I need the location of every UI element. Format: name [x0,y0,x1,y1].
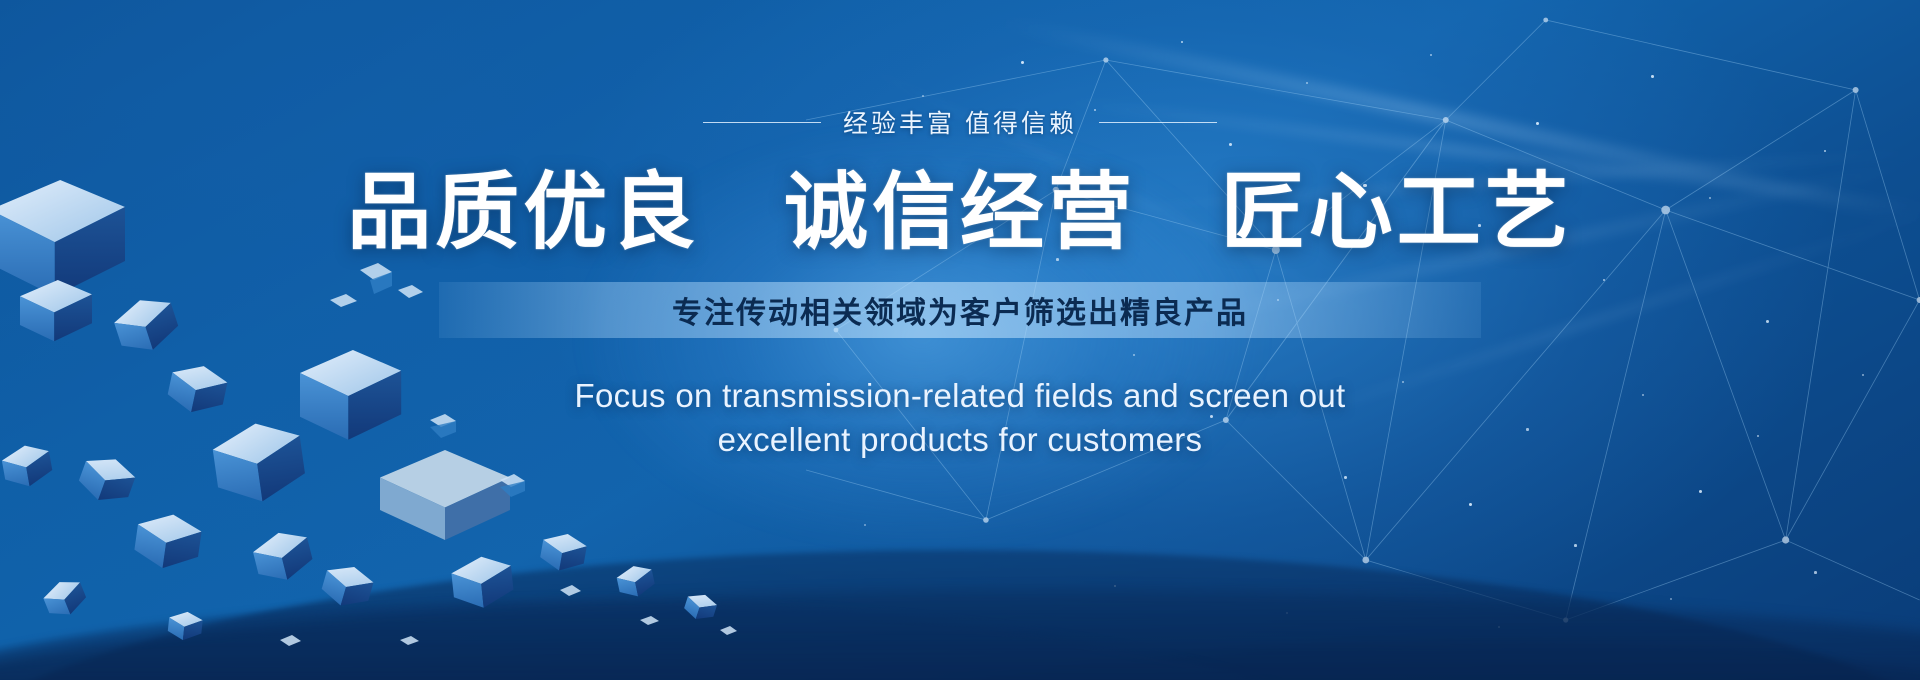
headline-segment-3: 匠心工艺 [1221,165,1573,259]
hero-banner: 经验丰富 值得信赖 品质优良 诚信经营 匠心工艺 专注传动相关领域为客户筛选出精… [0,0,1920,680]
eyebrow-row: 经验丰富 值得信赖 [703,104,1217,140]
banner-content: 经验丰富 值得信赖 品质优良 诚信经营 匠心工艺 专注传动相关领域为客户筛选出精… [0,0,1920,680]
eyebrow-text: 经验丰富 值得信赖 [843,104,1077,140]
english-line-2: excellent products for customers [574,418,1345,462]
headline-segment-1: 品质优良 [347,165,699,259]
english-line-1: Focus on transmission-related fields and… [574,374,1345,418]
eyebrow-rule-left [703,122,821,123]
english-tagline: Focus on transmission-related fields and… [574,374,1345,461]
eyebrow-rule-right [1099,122,1217,123]
page-title: 品质优良 诚信经营 匠心工艺 [347,168,1572,256]
headline-segment-2: 诚信经营 [784,165,1136,259]
subtitle-text: 专注传动相关领域为客户筛选出精良产品 [672,288,1248,332]
subtitle-band: 专注传动相关领域为客户筛选出精良产品 [439,282,1481,338]
